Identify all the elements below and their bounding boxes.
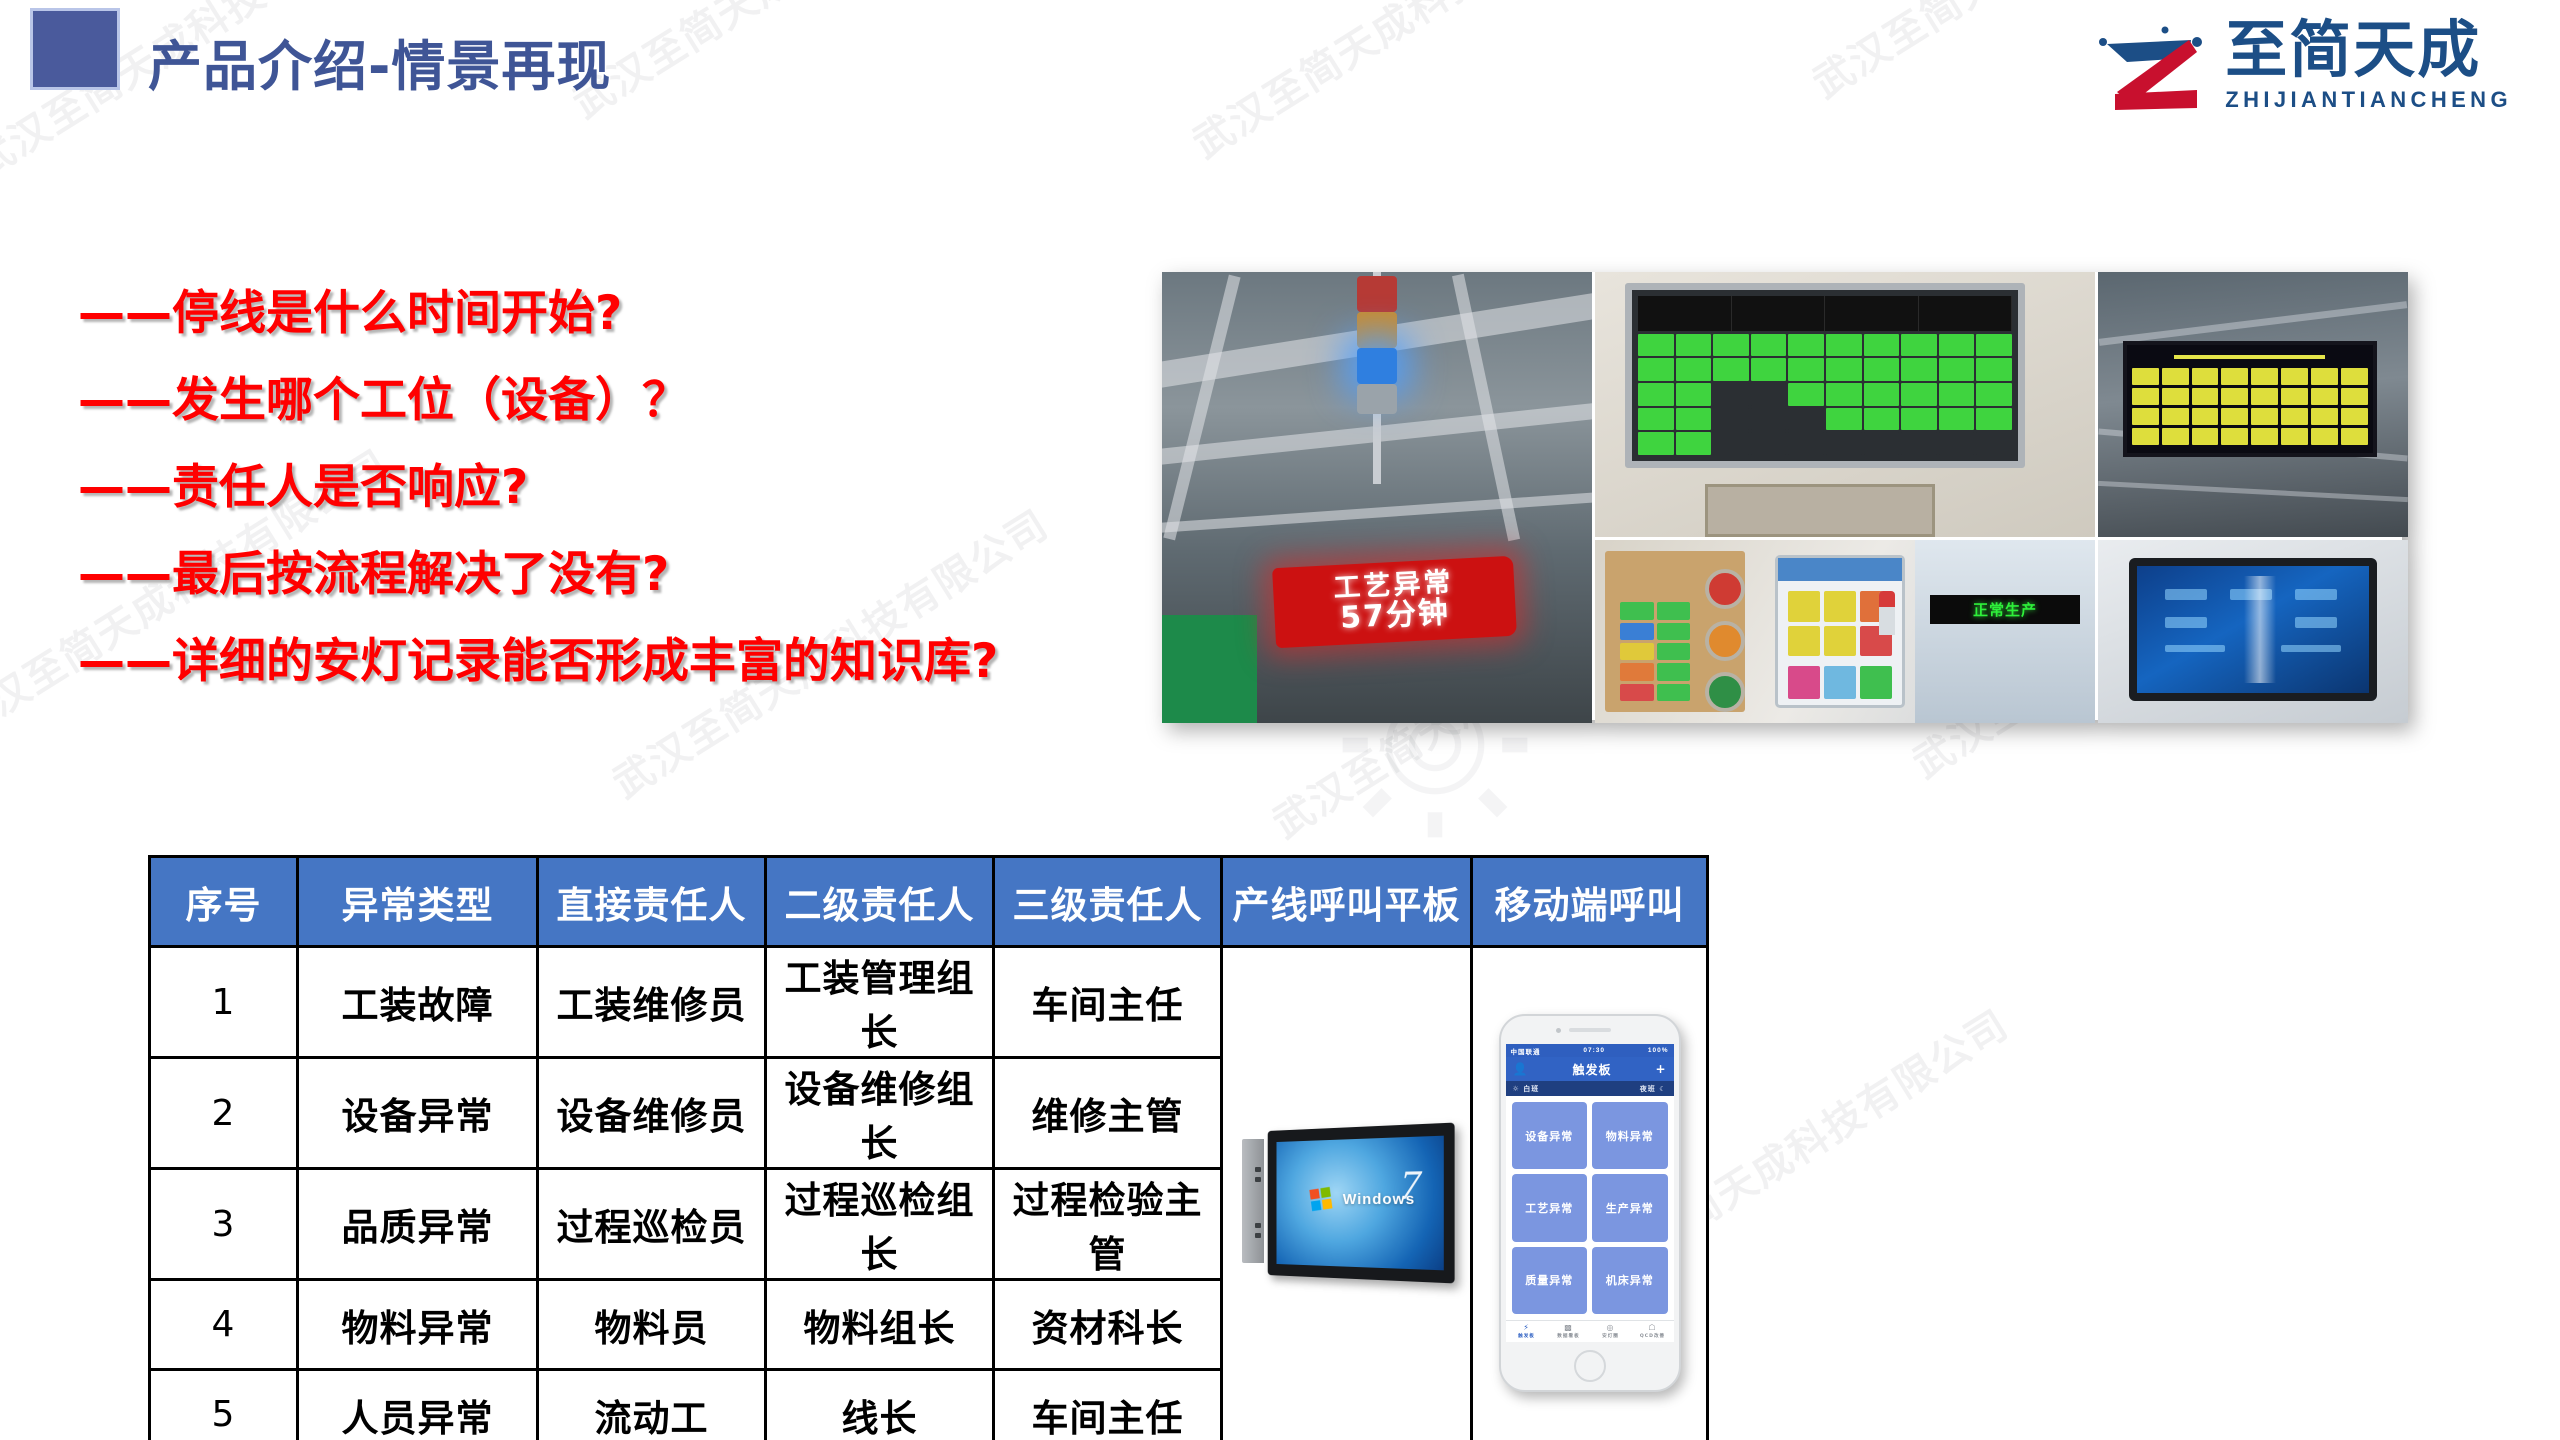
alarm-tile[interactable]: 物料异常: [1592, 1102, 1668, 1169]
home-icon: ☖: [1648, 1324, 1656, 1332]
cell-l3: 车间主任: [994, 1370, 1222, 1440]
phone-screen: 中国联通 07:30 100% 👤 触发板 +: [1506, 1044, 1674, 1342]
windows-version: 7: [1400, 1160, 1422, 1209]
watermark-text: 武汉至简天成科技有限公司: [560, 0, 1018, 129]
green-production-board-photo: [1595, 272, 2095, 537]
logo-company-name-en: ZHIJIANTIANCHENG: [2225, 87, 2512, 113]
tab-data-board[interactable]: ▩ 数据看板: [1548, 1321, 1590, 1342]
andon-tower-icon: [1879, 591, 1895, 635]
tab-qcd-improve[interactable]: ☖ QCD改善: [1632, 1321, 1674, 1342]
blue-monitoring-screen-photo: [2098, 540, 2408, 723]
column-header-index: 序号: [150, 857, 298, 947]
list-item: ——发生哪个工位（设备）？: [78, 377, 998, 424]
andon-lamp-icon: [1357, 276, 1397, 414]
list-item: ——责任人是否响应?: [78, 464, 998, 511]
front-camera-icon: [1556, 1028, 1561, 1033]
slide-canvas: 武汉至简天成科技有限公司 武汉至简天成科技有限公司 武汉至简天成科技有限公司 武…: [0, 0, 2560, 1440]
bolt-icon: ⚡: [1523, 1324, 1530, 1332]
list-item: ——详细的安灯记录能否形成丰富的知识库?: [78, 638, 998, 685]
cell-l2: 物料组长: [766, 1280, 994, 1370]
cell-l1: 工装维修员: [538, 947, 766, 1058]
alarm-tile[interactable]: 机床异常: [1592, 1247, 1668, 1314]
column-header-tablet: 产线呼叫平板: [1222, 857, 1472, 947]
day-shift-label[interactable]: ☼ 白班: [1513, 1084, 1540, 1094]
cell-l3: 车间主任: [994, 947, 1222, 1058]
home-button[interactable]: [1574, 1350, 1606, 1382]
watermark-text: 武汉至简天成科技有限公司: [1180, 0, 1638, 169]
column-header-type: 异常类型: [298, 857, 538, 947]
battery-label: 100%: [1648, 1047, 1669, 1054]
mobile-andon-app: 中国联通 07:30 100% 👤 触发板 +: [1499, 1014, 1681, 1392]
list-item: ——停线是什么时间开始?: [78, 290, 998, 337]
cell-l2: 工装管理组长: [766, 947, 994, 1058]
phone-status-bar: 中国联通 07:30 100%: [1506, 1044, 1674, 1057]
alarm-tile[interactable]: 生产异常: [1592, 1174, 1668, 1241]
cell-l2: 线长: [766, 1370, 994, 1440]
status-led-text: 正常生产: [1973, 599, 2037, 620]
title-accent-block: [30, 8, 120, 90]
cell-l1: 设备维修员: [538, 1058, 766, 1169]
column-header-l2: 二级责任人: [766, 857, 994, 947]
andon-led-display: 工艺异常 57分钟: [1272, 556, 1517, 648]
cell-type: 品质异常: [298, 1169, 538, 1280]
cell-index: 1: [150, 947, 298, 1058]
cell-l2: 过程巡检组长: [766, 1169, 994, 1280]
tab-andon-circle[interactable]: ◎ 安灯圈: [1590, 1321, 1632, 1342]
cell-mobile-image: 中国联通 07:30 100% 👤 触发板 +: [1472, 947, 1708, 1440]
cell-index: 4: [150, 1280, 298, 1370]
status-led-display: 正常生产: [1930, 595, 2080, 624]
question-list: ——停线是什么时间开始? ——发生哪个工位（设备）？ ——责任人是否响应? ——…: [78, 290, 998, 725]
circle-target-icon: ◎: [1607, 1324, 1615, 1332]
tab-trigger-board[interactable]: ⚡ 触发板: [1506, 1321, 1548, 1342]
column-header-mobile: 移动端呼叫: [1472, 857, 1708, 947]
shift-selector[interactable]: ☼ 白班 夜班 ☾: [1506, 1081, 1674, 1096]
alarm-tile[interactable]: 质量异常: [1512, 1247, 1588, 1314]
clock-label: 07:30: [1583, 1047, 1605, 1054]
industrial-panel-pc: Windows 7: [1242, 1123, 1452, 1283]
user-icon[interactable]: 👤: [1513, 1063, 1529, 1075]
cell-l2: 设备维修组长: [766, 1058, 994, 1169]
andon-call-button-panel-photo: 正常生产: [1595, 540, 2095, 723]
earpiece-speaker: [1569, 1028, 1611, 1032]
z-monogram-icon: [2093, 18, 2211, 114]
column-header-l3: 三级责任人: [994, 857, 1222, 947]
cell-l3: 资材科长: [994, 1280, 1222, 1370]
cell-type: 物料异常: [298, 1280, 538, 1370]
bar-chart-icon: ▩: [1564, 1324, 1573, 1332]
cell-type: 工装故障: [298, 947, 538, 1058]
windows-logo-icon: [1309, 1186, 1332, 1210]
responsibility-matrix-table: 序号 异常类型 直接责任人 二级责任人 三级责任人 产线呼叫平板 移动端呼叫 1…: [148, 855, 1709, 1440]
alarm-tile-grid: 设备异常 物料异常 工艺异常 生产异常 质量异常 机床异常: [1506, 1096, 1674, 1320]
phone-tab-bar: ⚡ 触发板 ▩ 数据看板 ◎ 安灯圈: [1506, 1320, 1674, 1342]
cell-tablet-image: Windows 7: [1222, 947, 1472, 1440]
list-item: ——最后按流程解决了没有?: [78, 551, 998, 598]
app-title: 触发板: [1572, 1061, 1611, 1078]
cell-type: 人员异常: [298, 1370, 538, 1440]
phone-navbar: 👤 触发板 +: [1506, 1057, 1674, 1081]
cell-l1: 过程巡检员: [538, 1169, 766, 1280]
column-header-l1: 直接责任人: [538, 857, 766, 947]
cell-l1: 物料员: [538, 1280, 766, 1370]
andon-led-line2: 57分钟: [1339, 597, 1450, 634]
alarm-tile[interactable]: 设备异常: [1512, 1102, 1588, 1169]
logo-company-name-cn: 至简天成: [2225, 19, 2512, 81]
photo-collage: 工艺异常 57分钟: [1162, 272, 2402, 720]
night-shift-label[interactable]: 夜班 ☾: [1640, 1084, 1667, 1094]
page-title: 产品介绍-情景再现: [148, 22, 611, 101]
cell-index: 3: [150, 1169, 298, 1280]
cell-l3: 过程检验主管: [994, 1169, 1222, 1280]
table-row: 1 工装故障 工装维修员 工装管理组长 车间主任 Windows: [150, 947, 1708, 1058]
cell-index: 5: [150, 1370, 298, 1440]
alarm-tile[interactable]: 工艺异常: [1512, 1174, 1588, 1241]
cell-l3: 维修主管: [994, 1058, 1222, 1169]
table-header-row: 序号 异常类型 直接责任人 二级责任人 三级责任人 产线呼叫平板 移动端呼叫: [150, 857, 1708, 947]
carrier-label: 中国联通: [1511, 1046, 1541, 1056]
plus-icon[interactable]: +: [1655, 1063, 1666, 1075]
cell-index: 2: [150, 1058, 298, 1169]
cell-l1: 流动工: [538, 1370, 766, 1440]
yellow-led-andon-board-photo: [2098, 272, 2408, 537]
andon-light-tower-photo: 工艺异常 57分钟: [1162, 272, 1592, 723]
company-logo: 至简天成 ZHIJIANTIANCHENG: [2093, 18, 2512, 114]
cell-type: 设备异常: [298, 1058, 538, 1169]
